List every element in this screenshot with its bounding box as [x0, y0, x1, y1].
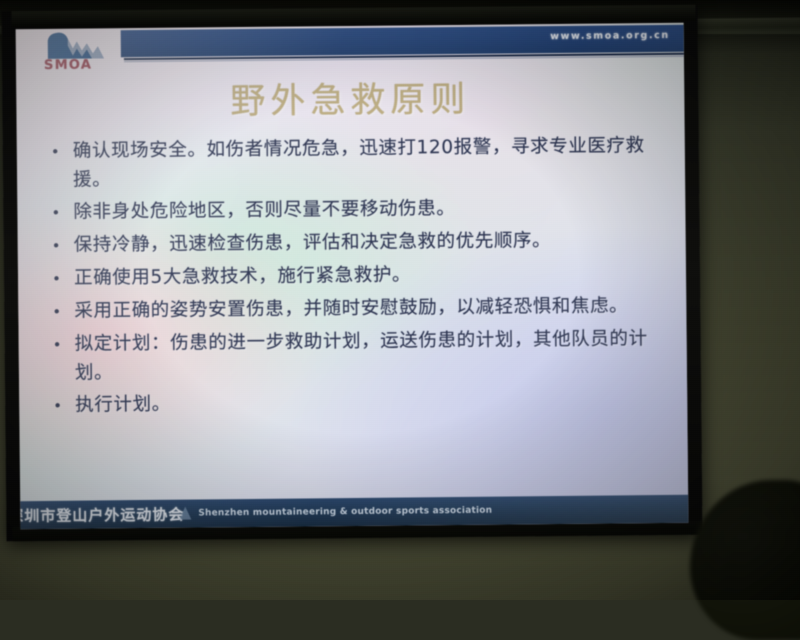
bullet-item: • 采用正确的姿势安置伤患，并随时安慰鼓励，以减轻恐惧和焦虑。 [48, 291, 668, 327]
footer-badge-icon [178, 505, 192, 521]
bullet-text: 拟定计划：伤患的进一步救助计划，运送伤患的计划，其他队员的计划。 [75, 324, 670, 388]
bullet-text: 正确使用5大急救技术，施行紧急救护。 [74, 258, 668, 293]
bullet-text: 除非身处危险地区，否则尽量不要移动伤患。 [73, 192, 667, 227]
bullet-item: • 确认现场安全。如伤者情况危急，迅速打120报警，寻求专业医疗救援。 [47, 131, 668, 195]
bullet-marker-icon: • [49, 330, 75, 360]
bullet-marker-icon: • [49, 391, 75, 421]
site-url-text: www.smoa.org.cn [550, 30, 670, 42]
slide-header: SMOA www.smoa.org.cn [16, 23, 684, 69]
smoa-logo: SMOA [40, 31, 118, 78]
logo-text: SMOA [44, 57, 92, 72]
corner-silhouette [690, 480, 800, 640]
room-background: SMOA www.smoa.org.cn 野外急救原则 • 确认现场安全。如伤者… [0, 0, 800, 600]
bullet-item: • 保持冷静，迅速检查伤患，评估和决定急救的优先顺序。 [48, 225, 668, 261]
slide-title: 野外急救原则 [16, 69, 684, 126]
bullet-marker-icon: • [47, 137, 73, 167]
footer-organization-en: Shenzhen mountaineering & outdoor sports… [198, 506, 492, 519]
bullet-item: • 正确使用5大急救技术，施行紧急救护。 [48, 258, 668, 294]
bullet-marker-icon: • [48, 297, 74, 327]
bullet-item: • 拟定计划：伤患的进一步救助计划，运送伤患的计划，其他队员的计划。 [49, 324, 670, 388]
projector-screen-frame: SMOA www.smoa.org.cn 野外急救原则 • 确认现场安全。如伤者… [1, 5, 702, 542]
bullet-text: 采用正确的姿势安置伤患，并随时安慰鼓励，以减轻恐惧和焦虑。 [74, 291, 668, 326]
bullet-text: 执行计划。 [75, 385, 669, 420]
bullet-item: • 执行计划。 [49, 385, 669, 421]
footer-organization-cn: 深圳市登山户外运动协会 [20, 503, 184, 526]
slide-body: • 确认现场安全。如伤者情况危急，迅速打120报警，寻求专业医疗救援。 • 除非… [47, 131, 670, 424]
bullet-marker-icon: • [47, 198, 73, 228]
bullet-text: 确认现场安全。如伤者情况危急，迅速打120报警，寻求专业医疗救援。 [73, 131, 668, 195]
bullet-marker-icon: • [48, 264, 74, 294]
bullet-item: • 除非身处危险地区，否则尽量不要移动伤患。 [47, 192, 667, 228]
presentation-slide: SMOA www.smoa.org.cn 野外急救原则 • 确认现场安全。如伤者… [16, 23, 689, 529]
bullet-text: 保持冷静，迅速检查伤患，评估和决定急救的优先顺序。 [74, 225, 668, 260]
bullet-marker-icon: • [48, 231, 74, 261]
